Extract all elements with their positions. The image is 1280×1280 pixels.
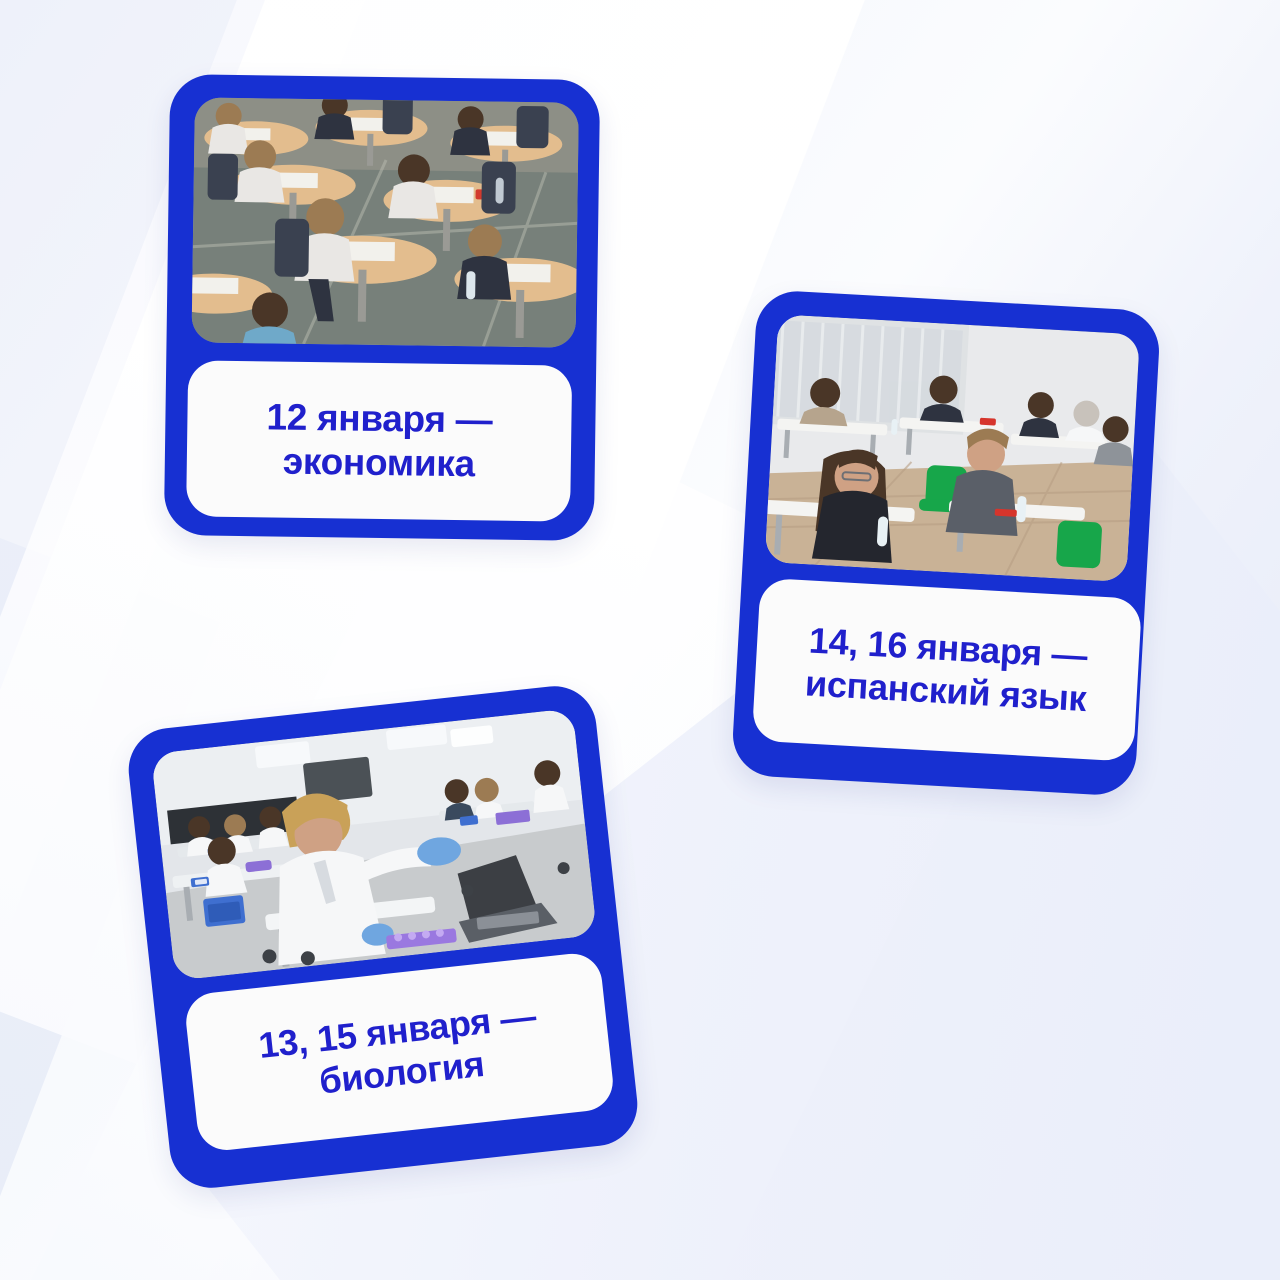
label-line-2: экономика: [266, 439, 492, 486]
photo-economics-exam-hall: [191, 97, 578, 347]
card-label-text-economics: 12 января — экономика: [266, 396, 493, 486]
schedule-card-economics[interactable]: 12 января — экономика: [164, 74, 600, 541]
photo-spanish-classroom: [765, 314, 1140, 582]
card-label-biology: 13, 15 января — биология: [183, 951, 616, 1153]
label-line-1: 12 января —: [266, 396, 492, 443]
schedule-card-biology[interactable]: 13, 15 января — биология: [124, 682, 641, 1192]
schedule-card-spanish[interactable]: 14, 16 января — испанский язык: [731, 289, 1161, 797]
card-label-text-biology: 13, 15 января — биология: [256, 995, 542, 1110]
photo-biology-lab: [151, 708, 597, 980]
card-label-text-spanish: 14, 16 января — испанский язык: [804, 619, 1090, 720]
card-label-spanish: 14, 16 января — испанский язык: [752, 578, 1143, 762]
card-label-economics: 12 января — экономика: [186, 360, 572, 521]
